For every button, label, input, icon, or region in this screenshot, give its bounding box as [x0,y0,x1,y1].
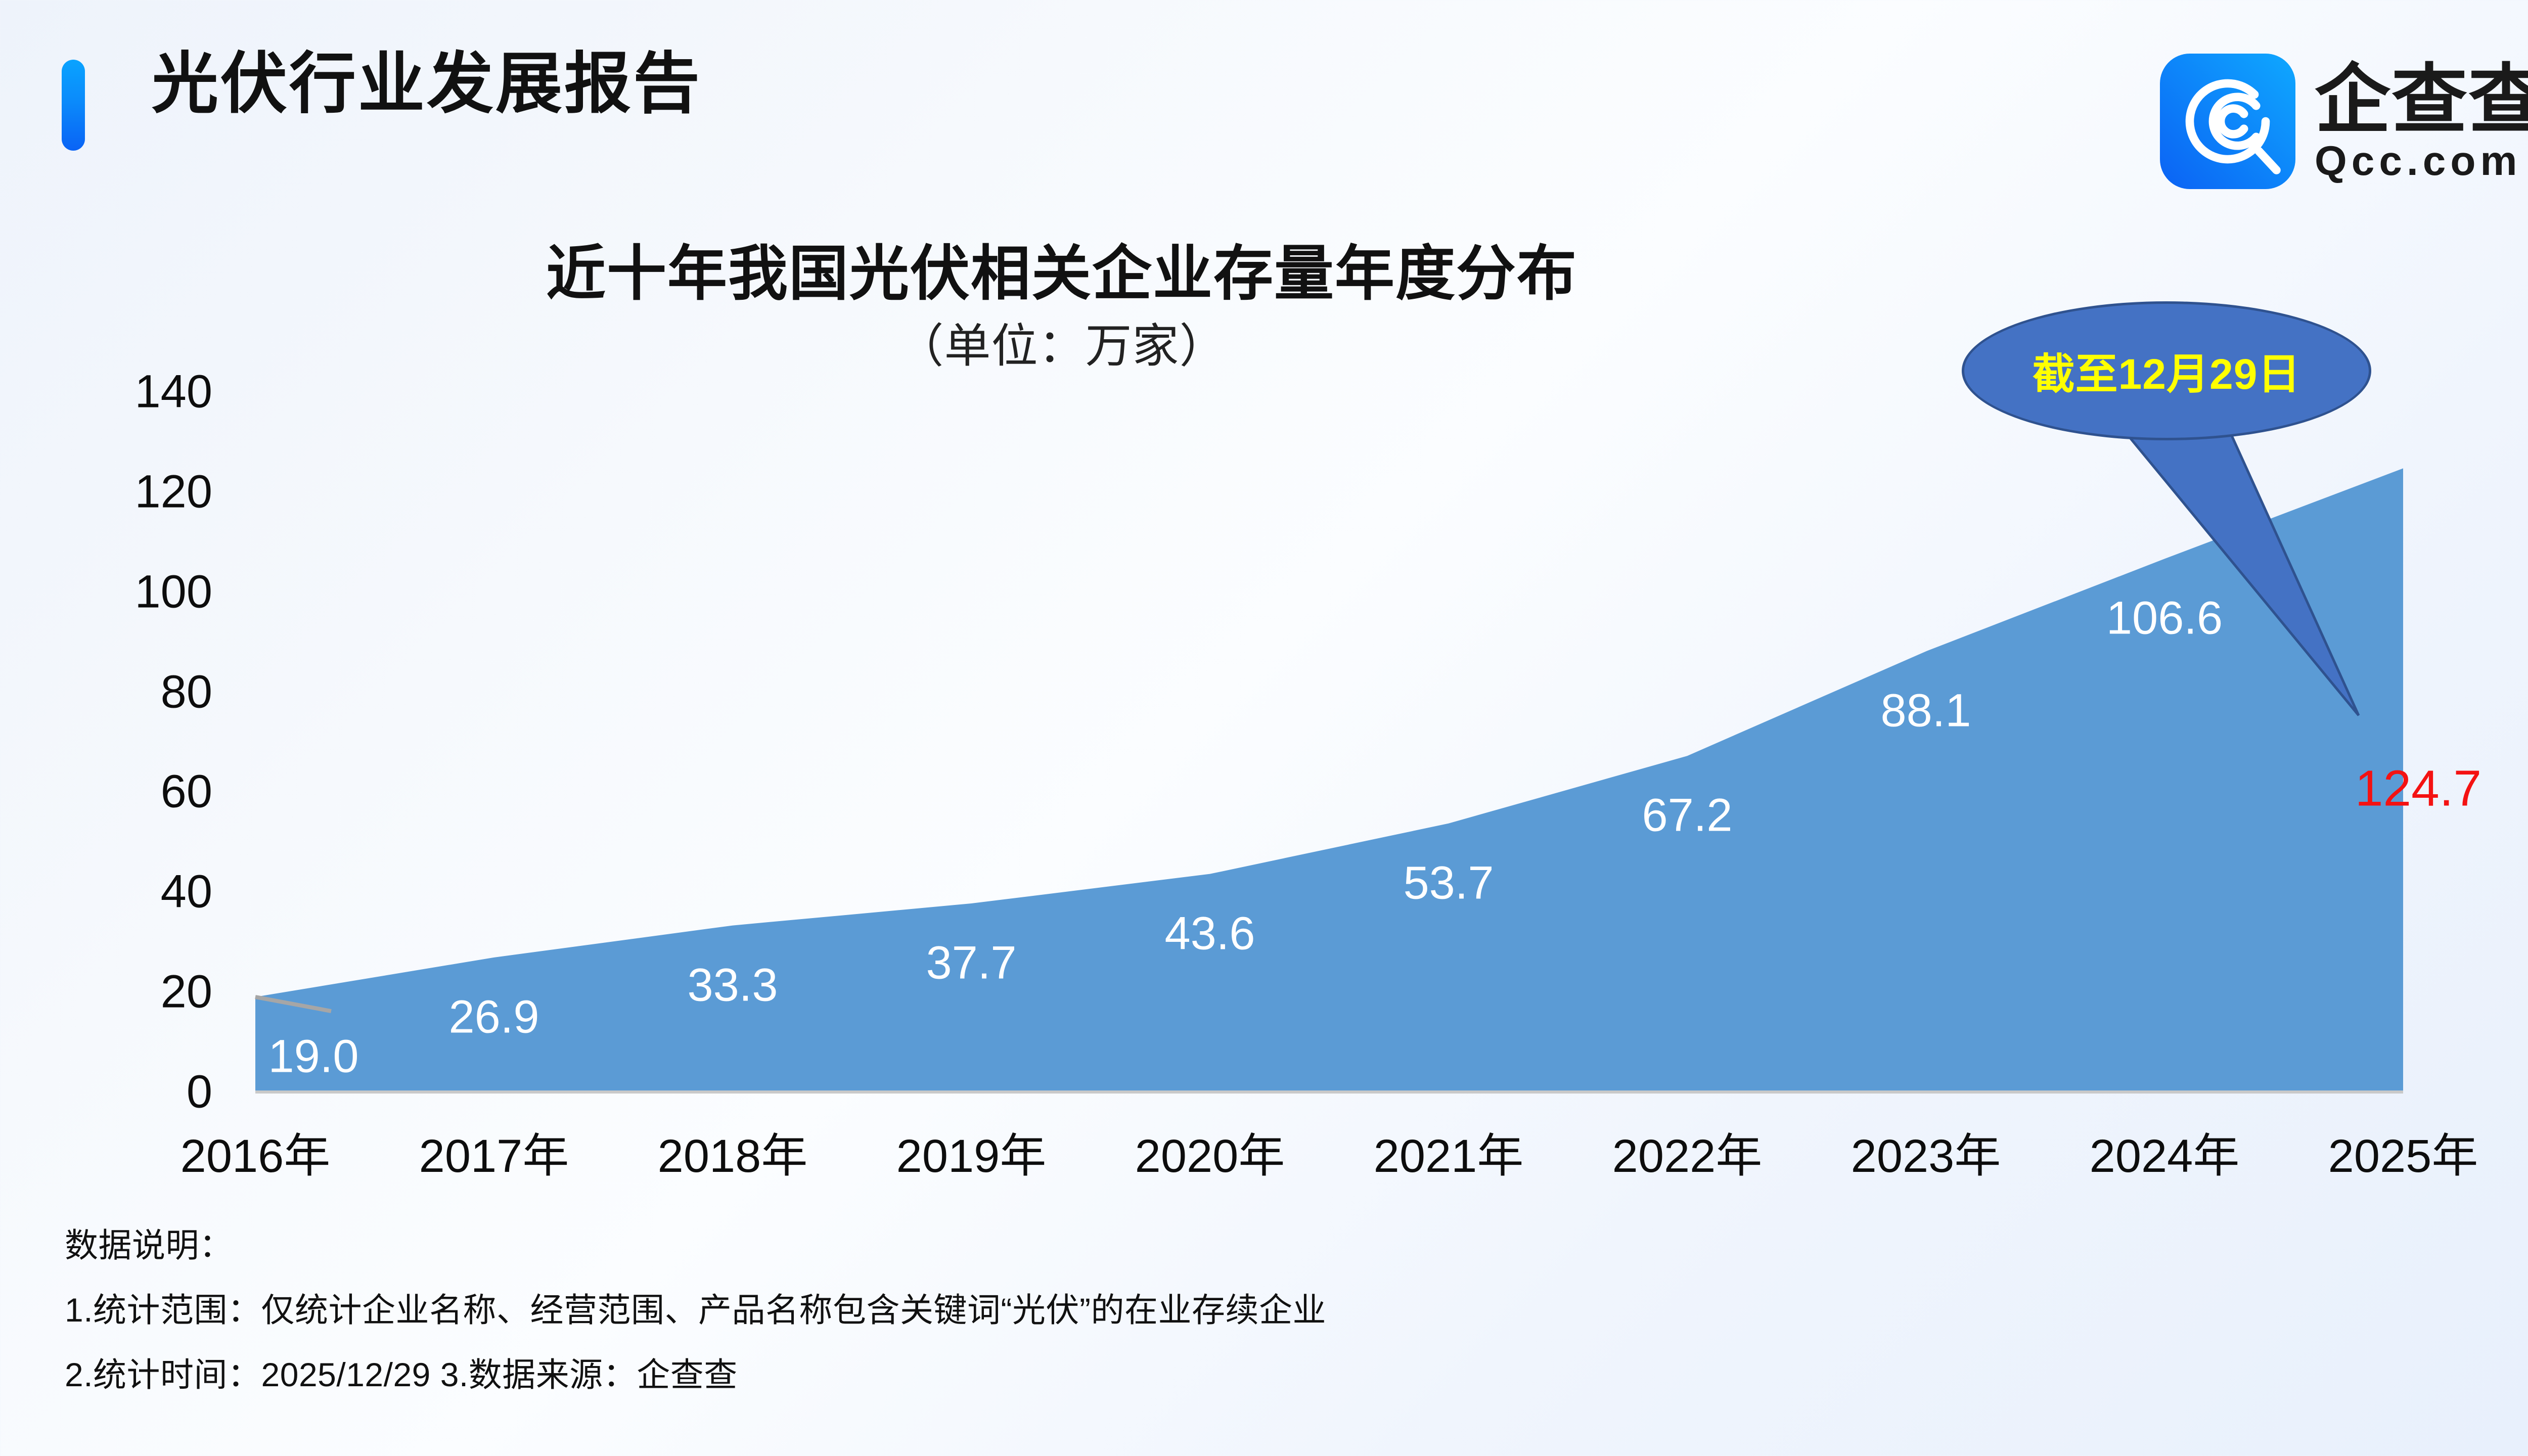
x-axis-tick-label: 2016年 [139,1118,372,1186]
note-item: 1.统计范围：仅统计企业名称、经营范围、产品名称包含关键词“光伏”的在业存续企业 [65,1293,2289,1327]
data-point-label: 53.7 [1403,856,1494,909]
data-point-label: 124.7 [2355,760,2481,818]
data-point-label: 19.0 [268,1030,358,1083]
data-point-label: 37.7 [926,937,1016,990]
y-axis-tick-label: 100 [0,565,212,618]
data-point-label: 33.3 [687,959,778,1012]
y-axis-tick-label: 120 [0,465,212,518]
x-axis-tick-label: 2024年 [2048,1118,2281,1186]
x-axis-tick-label: 2018年 [616,1118,849,1186]
x-axis-tick-label: 2020年 [1094,1118,1326,1186]
annotation-callout: 截至12月29日 [1962,301,2371,440]
area-series-fill [255,468,2403,1092]
data-point-label: 43.6 [1164,907,1255,960]
data-point-label: 67.2 [1642,789,1732,842]
y-axis-tick-label: 0 [0,1066,212,1119]
data-point-label: 106.6 [2106,592,2223,645]
y-axis-tick-label: 60 [0,765,212,818]
data-point-label: 26.9 [448,990,539,1043]
y-axis-tick-label: 140 [0,366,212,419]
y-axis-tick-label: 40 [0,866,212,919]
data-notes: 数据说明： 1.统计范围：仅统计企业名称、经营范围、产品名称包含关键词“光伏”的… [65,1228,2289,1423]
x-axis-tick-label: 2023年 [1810,1118,2042,1186]
x-axis-tick-label: 2021年 [1332,1118,1565,1186]
y-axis-tick-label: 80 [0,665,212,718]
x-axis-tick-label: 2025年 [2287,1118,2519,1186]
y-axis-tick-label: 20 [0,966,212,1019]
annotation-text: 截至12月29日 [2033,340,2301,401]
x-axis-tick-label: 2017年 [378,1118,610,1186]
notes-heading: 数据说明： [65,1228,2289,1262]
x-axis-tick-label: 2019年 [855,1118,1088,1186]
x-axis-tick-label: 2022年 [1571,1118,1803,1186]
data-point-label: 88.1 [1880,685,1971,738]
note-item: 2.统计时间：2025/12/29 3.数据来源：企查查 [65,1358,2289,1391]
